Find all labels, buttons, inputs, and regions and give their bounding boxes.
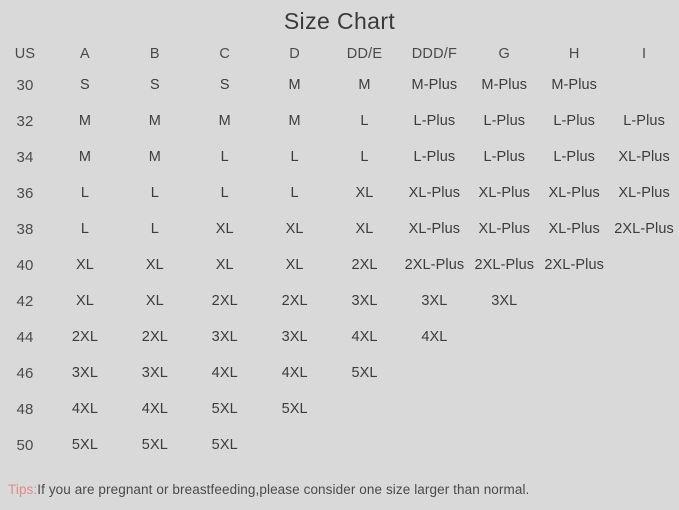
size-cell: 3XL bbox=[50, 355, 120, 391]
row-header-us-46: 46 bbox=[0, 355, 50, 391]
size-cell: 3XL bbox=[399, 283, 469, 319]
size-cell: L bbox=[120, 211, 190, 247]
tips-label: Tips: bbox=[8, 482, 37, 497]
size-cell: XL-Plus bbox=[539, 175, 609, 211]
size-cell: 3XL bbox=[469, 283, 539, 319]
table-body: 30SSSMMM-PlusM-PlusM-Plus32MMMMLL-PlusL-… bbox=[0, 67, 679, 463]
size-cell: 4XL bbox=[120, 391, 190, 427]
size-cell-empty bbox=[399, 355, 469, 391]
size-cell: XL bbox=[50, 247, 120, 283]
size-cell: M-Plus bbox=[399, 67, 469, 103]
size-cell-empty bbox=[609, 67, 679, 103]
table-row: 442XL2XL3XL3XL4XL4XL bbox=[0, 319, 679, 355]
tips-note: Tips:If you are pregnant or breastfeedin… bbox=[8, 482, 529, 497]
size-cell: 5XL bbox=[190, 427, 260, 463]
size-cell-empty bbox=[609, 427, 679, 463]
size-cell: L-Plus bbox=[399, 139, 469, 175]
size-cell: 4XL bbox=[399, 319, 469, 355]
column-header-dd-e: DD/E bbox=[330, 40, 400, 67]
size-cell: M bbox=[50, 139, 120, 175]
size-cell-empty bbox=[260, 427, 330, 463]
size-cell: XL-Plus bbox=[609, 139, 679, 175]
table-row: 34MMLLLL-PlusL-PlusL-PlusXL-Plus bbox=[0, 139, 679, 175]
size-cell: XL bbox=[260, 211, 330, 247]
size-cell: XL-Plus bbox=[539, 211, 609, 247]
size-cell: L bbox=[260, 175, 330, 211]
size-cell-empty bbox=[469, 391, 539, 427]
table-header-row: USABCDDD/EDDD/FGHI bbox=[0, 40, 679, 67]
size-cell: 2XL bbox=[330, 247, 400, 283]
size-cell: 2XL-Plus bbox=[539, 247, 609, 283]
size-cell: L-Plus bbox=[609, 103, 679, 139]
size-cell: XL-Plus bbox=[609, 175, 679, 211]
row-header-us-40: 40 bbox=[0, 247, 50, 283]
size-cell-empty bbox=[539, 391, 609, 427]
row-header-us-38: 38 bbox=[0, 211, 50, 247]
row-header-us-30: 30 bbox=[0, 67, 50, 103]
table-row: 484XL4XL5XL5XL bbox=[0, 391, 679, 427]
column-header-c: C bbox=[190, 40, 260, 67]
row-header-us-32: 32 bbox=[0, 103, 50, 139]
size-cell: L bbox=[120, 175, 190, 211]
size-cell: 2XL-Plus bbox=[609, 211, 679, 247]
size-cell: 2XL bbox=[120, 319, 190, 355]
size-cell: L bbox=[50, 211, 120, 247]
size-cell: S bbox=[50, 67, 120, 103]
size-cell: XL-Plus bbox=[469, 175, 539, 211]
size-cell: 3XL bbox=[330, 283, 400, 319]
size-cell-empty bbox=[469, 355, 539, 391]
size-cell: XL-Plus bbox=[469, 211, 539, 247]
size-cell: M-Plus bbox=[469, 67, 539, 103]
size-cell: 2XL bbox=[50, 319, 120, 355]
column-header-a: A bbox=[50, 40, 120, 67]
size-cell: S bbox=[120, 67, 190, 103]
size-cell: XL bbox=[260, 247, 330, 283]
column-header-h: H bbox=[539, 40, 609, 67]
size-cell: L bbox=[330, 139, 400, 175]
size-cell: M bbox=[190, 103, 260, 139]
table-row: 32MMMMLL-PlusL-PlusL-PlusL-Plus bbox=[0, 103, 679, 139]
size-cell-empty bbox=[539, 427, 609, 463]
row-header-us-42: 42 bbox=[0, 283, 50, 319]
size-cell: L-Plus bbox=[469, 103, 539, 139]
size-cell: L bbox=[330, 103, 400, 139]
size-cell-empty bbox=[399, 427, 469, 463]
size-cell: 5XL bbox=[330, 355, 400, 391]
row-header-us-44: 44 bbox=[0, 319, 50, 355]
row-header-us-48: 48 bbox=[0, 391, 50, 427]
size-cell: 4XL bbox=[50, 391, 120, 427]
size-cell: L-Plus bbox=[399, 103, 469, 139]
size-cell-empty bbox=[330, 427, 400, 463]
size-cell: 4XL bbox=[330, 319, 400, 355]
size-cell: 5XL bbox=[120, 427, 190, 463]
row-header-us-34: 34 bbox=[0, 139, 50, 175]
column-header-ddd-f: DDD/F bbox=[399, 40, 469, 67]
table-row: 38LLXLXLXLXL-PlusXL-PlusXL-Plus2XL-Plus bbox=[0, 211, 679, 247]
size-cell-empty bbox=[539, 319, 609, 355]
size-cell: L-Plus bbox=[539, 139, 609, 175]
size-cell: XL bbox=[190, 247, 260, 283]
size-cell: M bbox=[120, 103, 190, 139]
size-cell: 2XL-Plus bbox=[399, 247, 469, 283]
size-cell: XL bbox=[330, 175, 400, 211]
size-cell: M bbox=[330, 67, 400, 103]
size-cell: XL bbox=[190, 211, 260, 247]
size-cell-empty bbox=[539, 355, 609, 391]
size-cell: L-Plus bbox=[469, 139, 539, 175]
size-cell: L bbox=[50, 175, 120, 211]
size-cell-empty bbox=[469, 427, 539, 463]
page-title: Size Chart bbox=[0, 8, 679, 35]
size-cell: 3XL bbox=[190, 319, 260, 355]
size-cell: 5XL bbox=[190, 391, 260, 427]
size-cell: XL bbox=[330, 211, 400, 247]
row-header-us-36: 36 bbox=[0, 175, 50, 211]
size-cell: 4XL bbox=[190, 355, 260, 391]
size-cell: M bbox=[260, 103, 330, 139]
table-header: USABCDDD/EDDD/FGHI bbox=[0, 40, 679, 67]
size-cell: L bbox=[190, 175, 260, 211]
size-cell-empty bbox=[609, 283, 679, 319]
size-cell: 2XL bbox=[260, 283, 330, 319]
table-row: 42XLXL2XL2XL3XL3XL3XL bbox=[0, 283, 679, 319]
size-cell: XL bbox=[50, 283, 120, 319]
size-cell: 2XL bbox=[190, 283, 260, 319]
table-row: 463XL3XL4XL4XL5XL bbox=[0, 355, 679, 391]
size-cell: XL bbox=[120, 247, 190, 283]
size-cell: M-Plus bbox=[539, 67, 609, 103]
size-cell-empty bbox=[609, 319, 679, 355]
size-chart-page: Size Chart USABCDDD/EDDD/FGHI 30SSSMMM-P… bbox=[0, 0, 679, 510]
row-header-us-50: 50 bbox=[0, 427, 50, 463]
size-cell-empty bbox=[609, 391, 679, 427]
tips-text: If you are pregnant or breastfeeding,ple… bbox=[37, 482, 529, 497]
size-cell: M bbox=[120, 139, 190, 175]
size-cell: 5XL bbox=[260, 391, 330, 427]
size-cell-empty bbox=[609, 355, 679, 391]
size-cell: M bbox=[260, 67, 330, 103]
column-header-g: G bbox=[469, 40, 539, 67]
column-header-i: I bbox=[609, 40, 679, 67]
size-cell: 4XL bbox=[260, 355, 330, 391]
size-cell-empty bbox=[399, 391, 469, 427]
size-cell-empty bbox=[330, 391, 400, 427]
size-cell: L bbox=[190, 139, 260, 175]
table-row: 40XLXLXLXL2XL2XL-Plus2XL-Plus2XL-Plus bbox=[0, 247, 679, 283]
size-cell-empty bbox=[469, 319, 539, 355]
size-cell: 3XL bbox=[260, 319, 330, 355]
column-header-b: B bbox=[120, 40, 190, 67]
size-cell: 5XL bbox=[50, 427, 120, 463]
column-header-us: US bbox=[0, 40, 50, 67]
size-chart-table: USABCDDD/EDDD/FGHI 30SSSMMM-PlusM-PlusM-… bbox=[0, 40, 679, 463]
table-row: 505XL5XL5XL bbox=[0, 427, 679, 463]
column-header-d: D bbox=[260, 40, 330, 67]
size-cell: L bbox=[260, 139, 330, 175]
size-cell: 2XL-Plus bbox=[469, 247, 539, 283]
size-cell-empty bbox=[609, 247, 679, 283]
size-cell: XL bbox=[120, 283, 190, 319]
size-cell-empty bbox=[539, 283, 609, 319]
size-cell: S bbox=[190, 67, 260, 103]
size-cell: XL-Plus bbox=[399, 211, 469, 247]
size-cell: M bbox=[50, 103, 120, 139]
table-row: 36LLLLXLXL-PlusXL-PlusXL-PlusXL-Plus bbox=[0, 175, 679, 211]
size-cell: 3XL bbox=[120, 355, 190, 391]
table-row: 30SSSMMM-PlusM-PlusM-Plus bbox=[0, 67, 679, 103]
size-cell: XL-Plus bbox=[399, 175, 469, 211]
size-cell: L-Plus bbox=[539, 103, 609, 139]
